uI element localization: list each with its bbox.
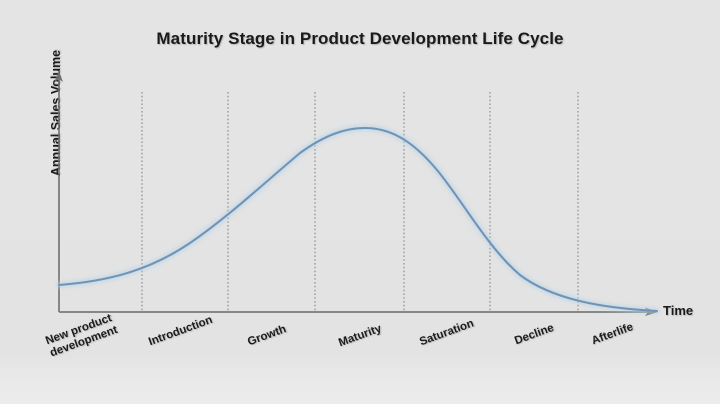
series-line — [59, 128, 657, 311]
x-axis — [59, 308, 658, 317]
chart-figure: Maturity Stage in Product Development Li… — [0, 0, 720, 404]
y-axis — [55, 71, 64, 312]
gridlines — [142, 92, 578, 311]
series-line-glow — [59, 128, 657, 311]
